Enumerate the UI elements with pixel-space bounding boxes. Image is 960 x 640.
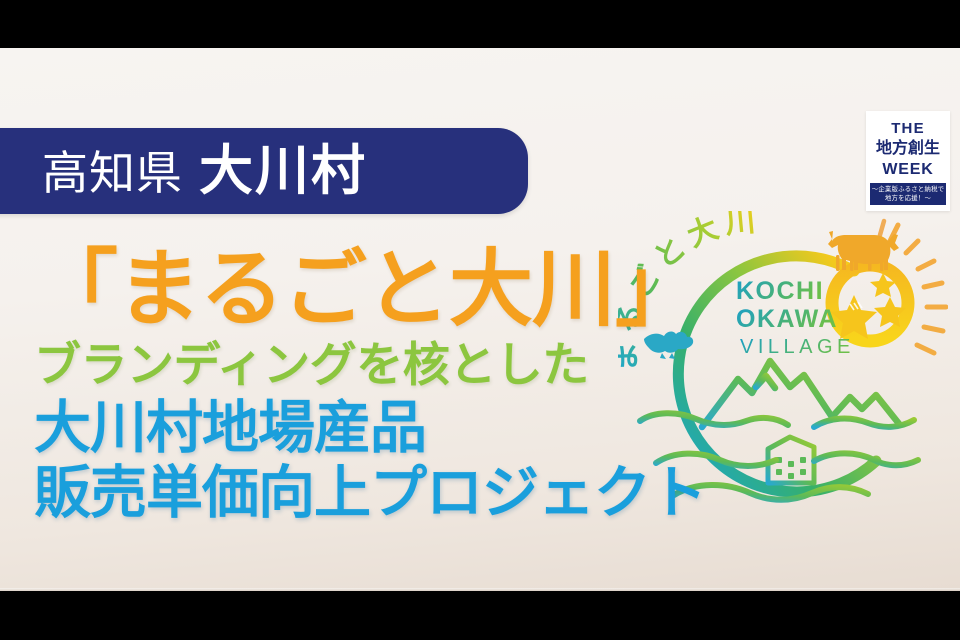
logo-mountains xyxy=(702,361,900,427)
headline-blue-line-2: 販売単価向上プロジェクト xyxy=(34,462,674,525)
logo-name-okawa: OKAWA xyxy=(736,305,838,333)
week-badge-week: WEEK xyxy=(882,162,933,178)
logo-building-windows xyxy=(776,457,806,479)
logo-name-village: VILLAGE xyxy=(740,336,855,358)
week-badge: THE 地方創生 WEEK 〜企業版ふるさと納税で 地方を応援！〜 xyxy=(866,111,950,211)
week-badge-jp: 地方創生 xyxy=(876,141,940,157)
week-badge-footer-line1: 〜企業版ふるさと納税で xyxy=(872,185,945,194)
letterbox-bottom xyxy=(0,591,960,640)
week-badge-the: THE xyxy=(891,121,925,136)
headline-main: 「まるごと大川」 xyxy=(34,248,674,330)
slide-stage: 高知県 大川村 THE 地方創生 WEEK 〜企業版ふるさと納税で 地方を応援！… xyxy=(0,0,960,640)
prefecture-banner-inner: 高知県 大川村 xyxy=(42,144,367,198)
headline-sub: ブランディングを核とした xyxy=(34,340,674,391)
week-badge-footer-line2: 地方を応援！〜 xyxy=(885,194,931,203)
slide-content: 高知県 大川村 THE 地方創生 WEEK 〜企業版ふるさと納税で 地方を応援！… xyxy=(0,48,960,591)
logo-sun-rays-outer xyxy=(880,221,884,235)
village-name: 大川村 xyxy=(199,144,367,198)
letterbox-top xyxy=(0,0,960,48)
logo-name-kochi: KOCHI xyxy=(736,277,824,305)
prefecture-name: 高知県 xyxy=(42,151,183,197)
logo-sun-ring xyxy=(831,265,908,341)
week-badge-footer: 〜企業版ふるさと納税で 地方を応援！〜 xyxy=(870,183,946,205)
headline-blue-line-1: 大川村地場産品 xyxy=(34,397,674,460)
headline-block: 「まるごと大川」 ブランディングを核とした 大川村地場産品 販売単価向上プロジェ… xyxy=(34,248,674,524)
prefecture-banner: 高知県 大川村 xyxy=(0,128,528,214)
